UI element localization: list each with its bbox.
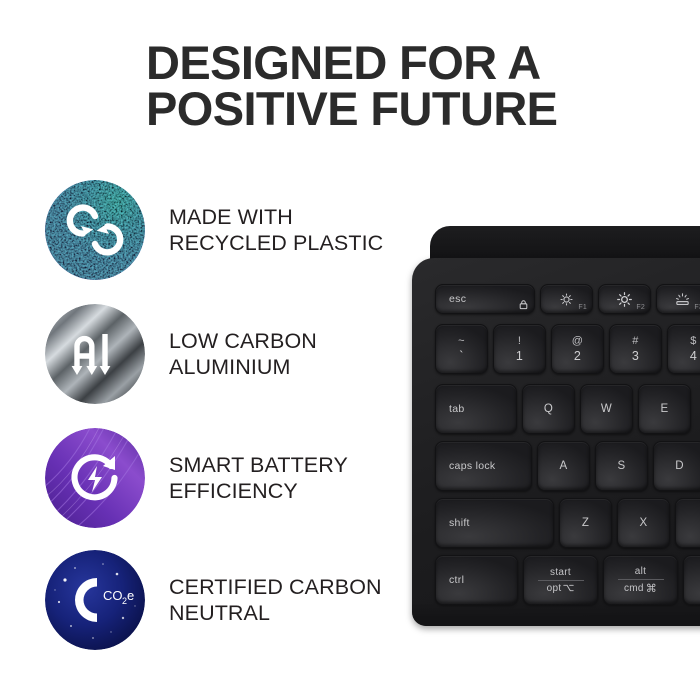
key-alt-cmd[interactable]: alt cmd ⌘ xyxy=(603,555,678,605)
brightness-low-icon xyxy=(558,291,575,308)
key-2-label: 2 xyxy=(574,349,581,363)
key-4[interactable]: $ 4 xyxy=(667,324,700,374)
key-3-shift-label: # xyxy=(632,335,638,347)
svg-text:CO: CO xyxy=(103,588,123,603)
key-f1[interactable]: F1 xyxy=(540,284,593,314)
key-backtick[interactable]: ~ ` xyxy=(435,324,488,374)
brightness-high-icon xyxy=(616,291,633,308)
feature-label-certified-carbon-neutral: CERTIFIED CARBON NEUTRAL xyxy=(169,574,382,626)
key-alt-label: alt xyxy=(635,566,646,579)
key-opt-label: opt xyxy=(547,583,562,594)
key-ctrl-label: ctrl xyxy=(449,574,464,586)
page-title: DESIGNED FOR A POSITIVE FUTURE xyxy=(146,40,616,132)
key-w-label: W xyxy=(601,403,612,415)
key-x-label: X xyxy=(640,517,648,529)
command-icon: ⌘ xyxy=(646,582,657,595)
keyboard-key-deck: esc F1 xyxy=(412,258,700,626)
key-4-label: 4 xyxy=(690,349,697,363)
key-2[interactable]: @ 2 xyxy=(551,324,604,374)
key-esc[interactable]: esc xyxy=(435,284,535,314)
key-3-label: 3 xyxy=(632,349,639,363)
feature-label-smart-battery-efficiency: SMART BATTERY EFFICIENCY xyxy=(169,452,348,504)
feature-label-low-carbon-aluminium: LOW CARBON ALUMINIUM xyxy=(169,328,317,380)
key-f2-fn-label: F2 xyxy=(636,304,645,311)
key-f2[interactable]: F2 xyxy=(598,284,651,314)
key-start-label: start xyxy=(550,567,571,580)
key-f3[interactable]: F3 xyxy=(656,284,700,314)
wireless-keyboard: esc F1 xyxy=(412,226,700,628)
key-a[interactable]: A xyxy=(537,441,590,491)
key-e[interactable]: E xyxy=(638,384,691,434)
key-q[interactable]: Q xyxy=(522,384,575,434)
key-cmd-label: cmd xyxy=(624,583,644,594)
marketing-panel: DESIGNED FOR A POSITIVE FUTURE xyxy=(0,0,700,700)
key-f1-fn-label: F1 xyxy=(578,304,587,311)
key-1-label: 1 xyxy=(516,349,523,363)
key-esc-label: esc xyxy=(449,293,466,305)
key-ctrl[interactable]: ctrl xyxy=(435,555,518,605)
key-x[interactable]: X xyxy=(617,498,670,548)
key-2-shift-label: @ xyxy=(572,335,583,347)
key-shift-label: shift xyxy=(449,517,470,529)
svg-text:e: e xyxy=(127,588,134,603)
backlight-icon xyxy=(674,291,691,308)
key-s[interactable]: S xyxy=(595,441,648,491)
low-carbon-aluminium-icon xyxy=(45,304,145,404)
feature-item-certified-carbon-neutral: CO 2 e CERTIFIED CARBON NEUTRAL xyxy=(45,550,382,650)
key-q-label: Q xyxy=(544,403,553,415)
key-d[interactable]: D xyxy=(653,441,700,491)
key-e-label: E xyxy=(661,403,669,415)
lock-icon xyxy=(518,299,529,310)
option-icon xyxy=(563,583,574,593)
key-start-opt[interactable]: start opt xyxy=(523,555,598,605)
key-1[interactable]: ! 1 xyxy=(493,324,546,374)
smart-battery-efficiency-icon xyxy=(45,428,145,528)
key-4-shift-label: $ xyxy=(690,335,696,347)
key-tab[interactable]: tab xyxy=(435,384,517,434)
key-backtick-shift-label: ~ xyxy=(458,335,465,347)
feature-item-smart-battery-efficiency: SMART BATTERY EFFICIENCY xyxy=(45,428,348,528)
key-w[interactable]: W xyxy=(580,384,633,434)
key-backtick-label: ` xyxy=(459,349,463,363)
key-caps-lock[interactable]: caps lock xyxy=(435,441,532,491)
key-tab-label: tab xyxy=(449,403,465,415)
key-spacebar[interactable] xyxy=(683,555,700,605)
key-c[interactable] xyxy=(675,498,700,548)
key-1-shift-label: ! xyxy=(518,335,521,347)
certified-carbon-neutral-icon: CO 2 e xyxy=(45,550,145,650)
key-a-label: A xyxy=(560,460,568,472)
feature-item-low-carbon-aluminium: LOW CARBON ALUMINIUM xyxy=(45,304,317,404)
key-3[interactable]: # 3 xyxy=(609,324,662,374)
key-s-label: S xyxy=(618,460,626,472)
key-z-label: Z xyxy=(582,517,589,529)
key-f3-fn-label: F3 xyxy=(694,304,700,311)
key-caps-lock-label: caps lock xyxy=(449,460,495,472)
key-shift[interactable]: shift xyxy=(435,498,554,548)
feature-label-recycled-plastic: MADE WITH RECYCLED PLASTIC xyxy=(169,204,383,256)
recycled-plastic-icon xyxy=(45,180,145,280)
key-z[interactable]: Z xyxy=(559,498,612,548)
key-d-label: D xyxy=(675,460,684,472)
feature-item-recycled-plastic: MADE WITH RECYCLED PLASTIC xyxy=(45,180,383,280)
